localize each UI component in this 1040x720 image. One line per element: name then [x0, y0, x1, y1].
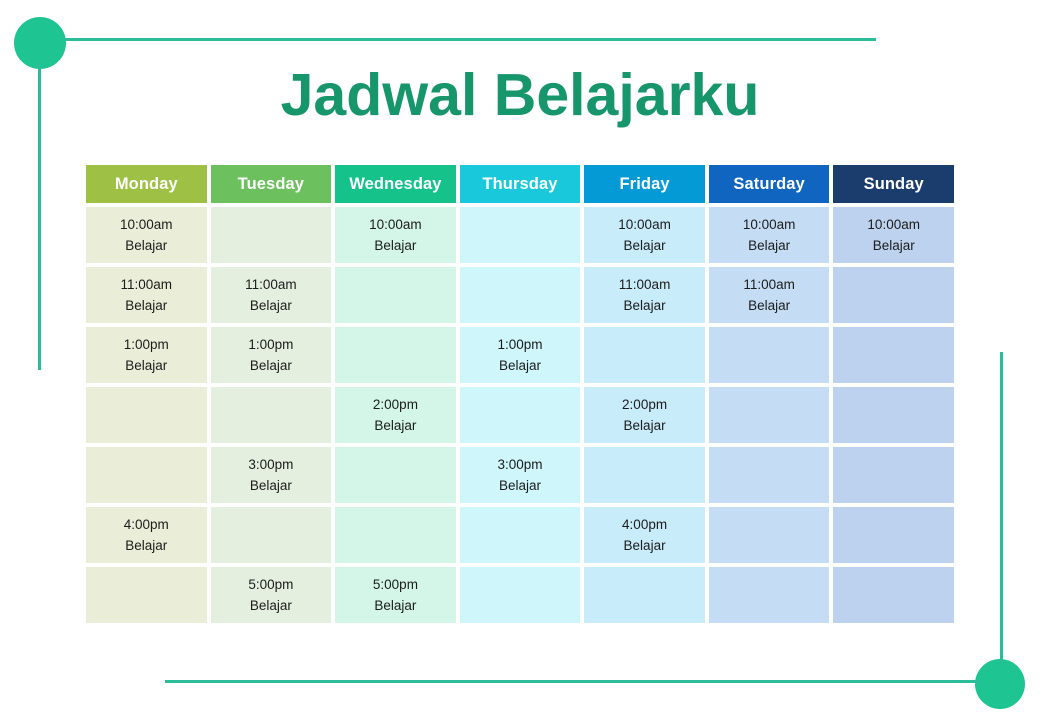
slot-time: 10:00am [618, 218, 671, 232]
schedule-slot-filled[interactable]: 2:00pmBelajar [584, 387, 705, 443]
schedule-slot-filled[interactable]: 4:00pmBelajar [86, 507, 207, 563]
schedule-slot-filled[interactable]: 11:00amBelajar [709, 267, 830, 323]
slot-activity: Belajar [125, 359, 167, 373]
slot-activity: Belajar [499, 359, 541, 373]
slot-time: 2:00pm [622, 398, 667, 412]
slot-activity: Belajar [624, 299, 666, 313]
day-header-thursday: Thursday [460, 165, 581, 203]
schedule-slot-empty[interactable] [86, 387, 207, 443]
slot-activity: Belajar [250, 599, 292, 613]
day-header-wednesday: Wednesday [335, 165, 456, 203]
slot-activity: Belajar [499, 479, 541, 493]
schedule-slot-empty[interactable] [460, 567, 581, 623]
slot-time: 5:00pm [248, 578, 293, 592]
schedule-slot-empty[interactable] [833, 567, 954, 623]
schedule-slot-empty[interactable] [335, 327, 456, 383]
slot-activity: Belajar [125, 299, 167, 313]
decorative-circle-bottom-right [975, 659, 1025, 709]
schedule-slot-filled[interactable]: 2:00pmBelajar [335, 387, 456, 443]
schedule-slot-empty[interactable] [460, 267, 581, 323]
schedule-slot-filled[interactable]: 10:00amBelajar [584, 207, 705, 263]
schedule-slot-empty[interactable] [211, 207, 332, 263]
decorative-line-right [1000, 352, 1003, 662]
slot-activity: Belajar [125, 239, 167, 253]
slot-activity: Belajar [873, 239, 915, 253]
schedule-slot-filled[interactable]: 1:00pmBelajar [460, 327, 581, 383]
schedule-slot-filled[interactable]: 10:00amBelajar [86, 207, 207, 263]
slot-activity: Belajar [748, 239, 790, 253]
day-header-tuesday: Tuesday [211, 165, 332, 203]
slot-time: 10:00am [743, 218, 796, 232]
schedule-slot-empty[interactable] [833, 507, 954, 563]
schedule-slot-empty[interactable] [709, 567, 830, 623]
slot-activity: Belajar [250, 479, 292, 493]
schedule-table: MondayTuesdayWednesdayThursdayFridaySatu… [86, 165, 954, 623]
slot-time: 4:00pm [622, 518, 667, 532]
slot-activity: Belajar [624, 239, 666, 253]
schedule-slot-filled[interactable]: 1:00pmBelajar [211, 327, 332, 383]
slot-time: 11:00am [245, 278, 297, 292]
slot-time: 10:00am [369, 218, 422, 232]
schedule-slot-filled[interactable]: 10:00amBelajar [709, 207, 830, 263]
schedule-slot-filled[interactable]: 3:00pmBelajar [460, 447, 581, 503]
schedule-slot-filled[interactable]: 11:00amBelajar [584, 267, 705, 323]
schedule-slot-empty[interactable] [335, 267, 456, 323]
slot-activity: Belajar [748, 299, 790, 313]
schedule-slot-filled[interactable]: 10:00amBelajar [833, 207, 954, 263]
schedule-slot-empty[interactable] [709, 447, 830, 503]
slot-activity: Belajar [374, 599, 416, 613]
slot-time: 2:00pm [373, 398, 418, 412]
slot-time: 3:00pm [497, 458, 542, 472]
slot-time: 4:00pm [124, 518, 169, 532]
slot-time: 1:00pm [248, 338, 293, 352]
slot-time: 11:00am [743, 278, 795, 292]
schedule-slot-empty[interactable] [460, 387, 581, 443]
schedule-slot-empty[interactable] [86, 567, 207, 623]
slot-time: 10:00am [120, 218, 173, 232]
page-title: Jadwal Belajarku [0, 62, 1040, 130]
schedule-slot-empty[interactable] [833, 327, 954, 383]
schedule-slot-empty[interactable] [335, 447, 456, 503]
schedule-slot-filled[interactable]: 10:00amBelajar [335, 207, 456, 263]
schedule-slot-empty[interactable] [335, 507, 456, 563]
schedule-slot-filled[interactable]: 5:00pmBelajar [335, 567, 456, 623]
slot-activity: Belajar [624, 539, 666, 553]
schedule-slot-empty[interactable] [584, 567, 705, 623]
schedule-slot-empty[interactable] [584, 327, 705, 383]
slot-time: 5:00pm [373, 578, 418, 592]
slot-activity: Belajar [250, 359, 292, 373]
schedule-slot-filled[interactable]: 11:00amBelajar [86, 267, 207, 323]
decorative-line-top [62, 38, 876, 41]
schedule-slot-empty[interactable] [833, 387, 954, 443]
schedule-slot-empty[interactable] [833, 447, 954, 503]
schedule-slot-empty[interactable] [584, 447, 705, 503]
schedule-slot-empty[interactable] [709, 387, 830, 443]
schedule-slot-filled[interactable]: 5:00pmBelajar [211, 567, 332, 623]
slot-time: 1:00pm [497, 338, 542, 352]
schedule-slot-empty[interactable] [709, 507, 830, 563]
schedule-slot-empty[interactable] [86, 447, 207, 503]
day-header-monday: Monday [86, 165, 207, 203]
slot-time: 11:00am [121, 278, 173, 292]
slot-activity: Belajar [374, 239, 416, 253]
slot-time: 1:00pm [124, 338, 169, 352]
schedule-slot-empty[interactable] [460, 507, 581, 563]
decorative-line-bottom [165, 680, 980, 683]
slot-activity: Belajar [374, 419, 416, 433]
schedule-slot-filled[interactable]: 4:00pmBelajar [584, 507, 705, 563]
day-header-sunday: Sunday [833, 165, 954, 203]
slot-time: 3:00pm [248, 458, 293, 472]
schedule-slot-empty[interactable] [833, 267, 954, 323]
day-header-friday: Friday [584, 165, 705, 203]
slot-activity: Belajar [125, 539, 167, 553]
schedule-slot-empty[interactable] [460, 207, 581, 263]
schedule-slot-filled[interactable]: 11:00amBelajar [211, 267, 332, 323]
schedule-slot-empty[interactable] [211, 387, 332, 443]
slot-activity: Belajar [624, 419, 666, 433]
day-header-saturday: Saturday [709, 165, 830, 203]
schedule-slot-empty[interactable] [211, 507, 332, 563]
schedule-slot-filled[interactable]: 3:00pmBelajar [211, 447, 332, 503]
slot-time: 11:00am [619, 278, 671, 292]
schedule-slot-empty[interactable] [709, 327, 830, 383]
slot-activity: Belajar [250, 299, 292, 313]
slot-time: 10:00am [867, 218, 920, 232]
schedule-slot-filled[interactable]: 1:00pmBelajar [86, 327, 207, 383]
